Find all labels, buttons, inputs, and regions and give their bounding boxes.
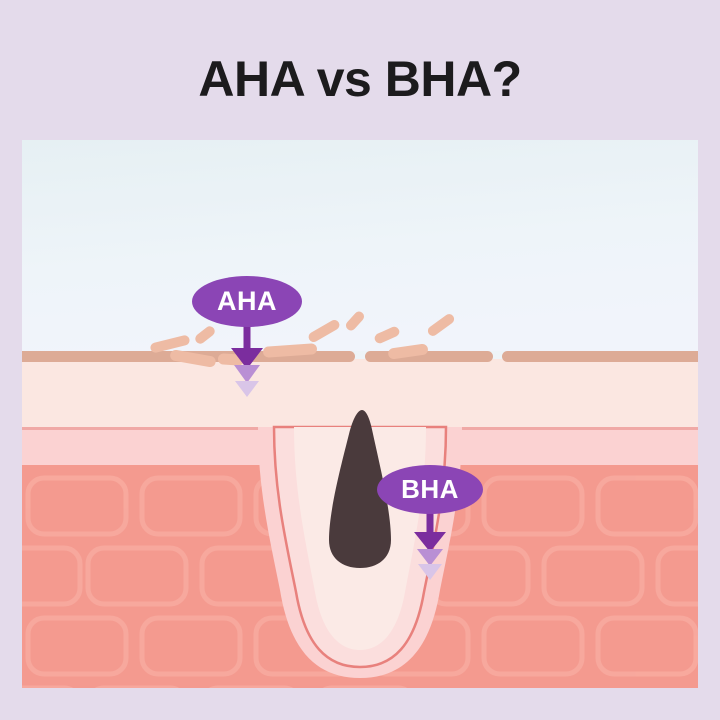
badge-aha[interactable]: AHA: [192, 276, 302, 327]
skin-cross-section-diagram: [22, 140, 698, 688]
diagram-panel: AHAClear dead skins on the skin surface …: [22, 140, 698, 688]
badge-bha[interactable]: BHA: [377, 465, 483, 514]
infographic-canvas: AHA vs BHA? AHAClear dead skins on the s…: [0, 0, 720, 720]
page-title: AHA vs BHA?: [0, 50, 720, 108]
